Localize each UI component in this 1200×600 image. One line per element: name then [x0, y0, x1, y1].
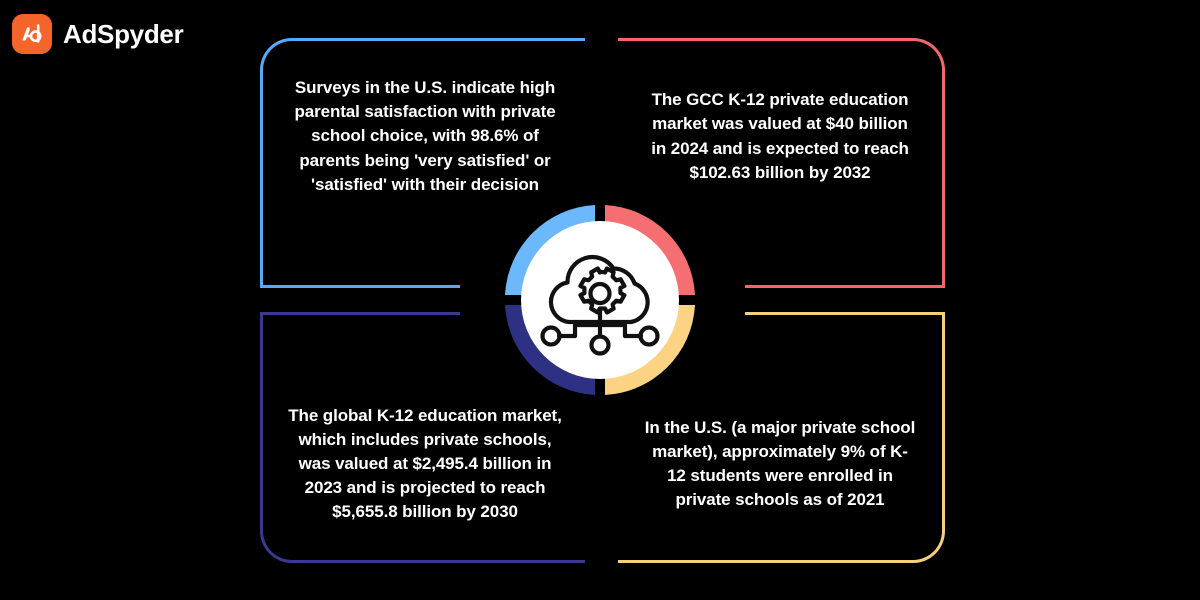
card-edge-stub-top-right [745, 285, 945, 288]
card-edge-stub-top-left [260, 285, 460, 288]
center-emblem [497, 197, 703, 403]
card-edge-stub-bottom-left [260, 312, 460, 315]
brand-name: AdSpyder [63, 19, 183, 50]
card-edge-stub-bottom-right [745, 312, 945, 315]
adspyder-logo-icon [12, 14, 52, 54]
brand-logo: AdSpyder [12, 14, 183, 54]
